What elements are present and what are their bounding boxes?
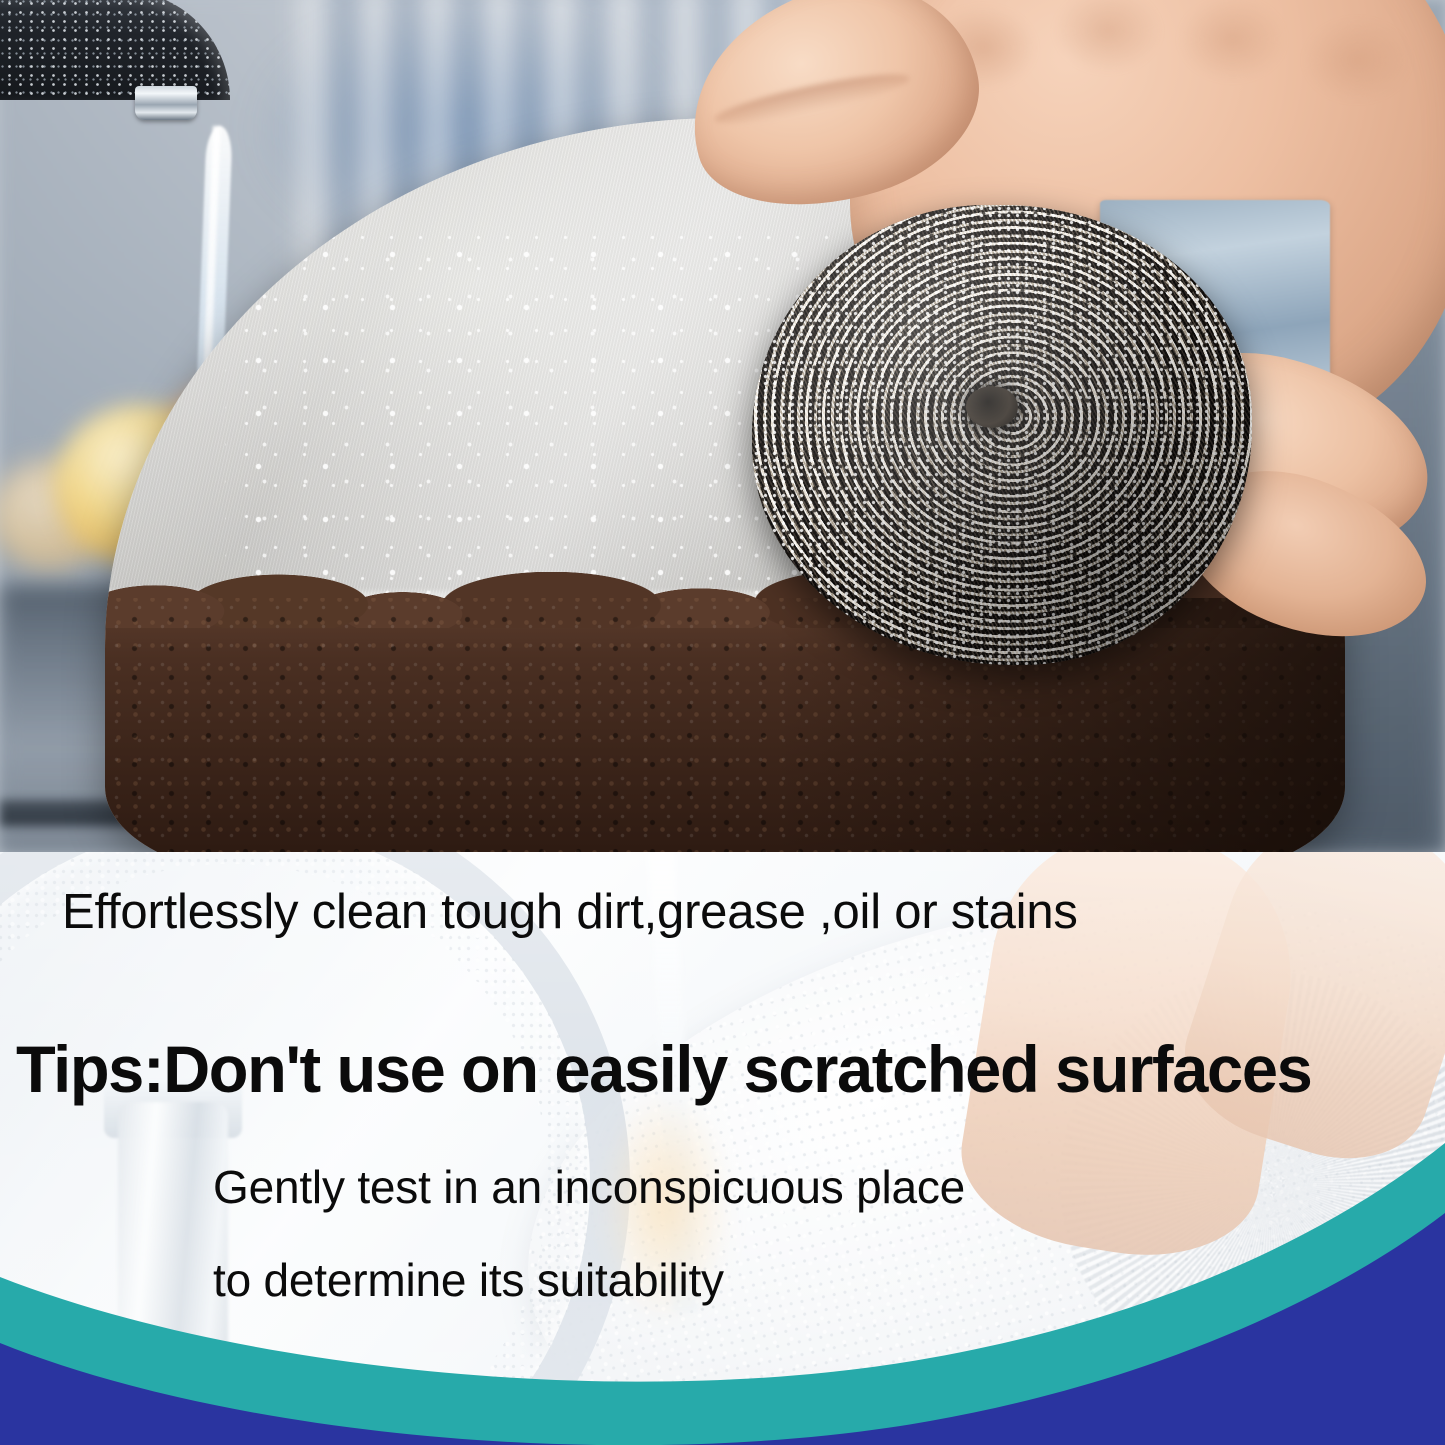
scrubber-shading: [752, 205, 1252, 665]
faucet-aerator: [135, 86, 197, 120]
faucet-water-speckles: [0, 0, 230, 100]
hand-knuckles: [910, 0, 1430, 140]
product-infographic: Effortlessly clean tough dirt,grease ,oi…: [0, 0, 1445, 1445]
tips-detail-line-2: to determine its suitability: [213, 1257, 724, 1303]
tips-headline: Tips:Don't use on easily scratched surfa…: [16, 1036, 1311, 1102]
steel-wool-scrubber-ball: [752, 205, 1252, 665]
bottom-text-panel: [0, 852, 1445, 1445]
top-product-photo: [0, 0, 1445, 852]
tips-detail-line-1: Gently test in an inconspicuous place: [213, 1164, 965, 1210]
benefit-line: Effortlessly clean tough dirt,grease ,oi…: [62, 888, 1078, 937]
